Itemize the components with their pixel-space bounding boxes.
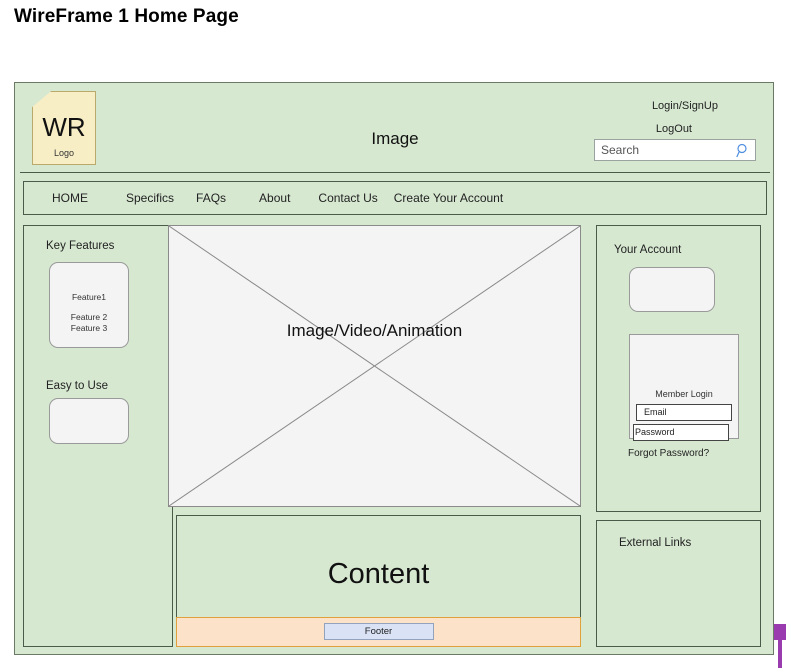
content-label: Content <box>177 558 580 591</box>
feature-item-1: Feature1 <box>50 292 128 302</box>
key-features-heading: Key Features <box>46 240 114 252</box>
page-title: WireFrame 1 Home Page <box>14 6 239 28</box>
member-login-panel: Member Login Email Password <box>629 334 739 439</box>
external-links-panel: External Links <box>596 520 761 647</box>
search-input[interactable]: Search <box>594 139 756 161</box>
nav-item-create-your-account[interactable]: Create Your Account <box>394 191 503 205</box>
your-account-heading: Your Account <box>614 244 681 256</box>
logout-link[interactable]: LogOut <box>656 123 692 135</box>
purple-marker-icon[interactable] <box>774 624 786 668</box>
footer-button[interactable]: Footer <box>324 623 434 640</box>
email-field[interactable]: Email <box>636 404 732 421</box>
account-placeholder-box[interactable] <box>629 267 715 312</box>
left-sidebar: Key Features Feature1 Feature 2 Feature … <box>23 225 173 647</box>
search-icon[interactable] <box>736 143 750 158</box>
forgot-password-link[interactable]: Forgot Password? <box>628 448 709 459</box>
password-field[interactable]: Password <box>633 424 729 441</box>
nav-item-home[interactable]: HOME <box>52 191 88 205</box>
placeholder-cross-icon <box>169 226 580 506</box>
nav-item-specifics[interactable]: Specifics <box>126 191 174 205</box>
primary-navigation: HOME Specifics FAQs About Contact Us Cre… <box>23 181 767 215</box>
external-links-heading: External Links <box>619 537 691 549</box>
logo-caption: Logo <box>33 148 95 158</box>
media-placeholder[interactable]: Image/Video/Animation <box>168 225 581 507</box>
nav-list: HOME Specifics FAQs About Contact Us Cre… <box>52 191 503 205</box>
easy-to-use-box[interactable] <box>49 398 129 444</box>
feature-items-2-3: Feature 2 Feature 3 <box>50 312 128 334</box>
nav-item-about[interactable]: About <box>259 191 290 205</box>
login-signup-link[interactable]: Login/SignUp <box>652 100 718 112</box>
account-panel: Your Account Member Login Email Password… <box>596 225 761 512</box>
marker-stem <box>778 640 782 668</box>
wireframe-canvas: WR Logo Image Login/SignUp LogOut Search… <box>14 82 774 655</box>
header-band: WR Logo Image Login/SignUp LogOut Search <box>20 87 770 173</box>
logo-badge[interactable]: WR Logo <box>32 91 96 165</box>
easy-to-use-heading: Easy to Use <box>46 380 108 392</box>
media-placeholder-label: Image/Video/Animation <box>169 321 580 341</box>
footer-band: Footer <box>176 617 581 647</box>
key-features-box[interactable]: Feature1 Feature 2 Feature 3 <box>49 262 129 348</box>
nav-item-contact-us[interactable]: Contact Us <box>318 191 377 205</box>
member-login-title: Member Login <box>630 389 738 399</box>
nav-item-faqs[interactable]: FAQs <box>196 191 226 205</box>
search-placeholder-text: Search <box>601 143 639 157</box>
marker-head <box>774 624 786 640</box>
